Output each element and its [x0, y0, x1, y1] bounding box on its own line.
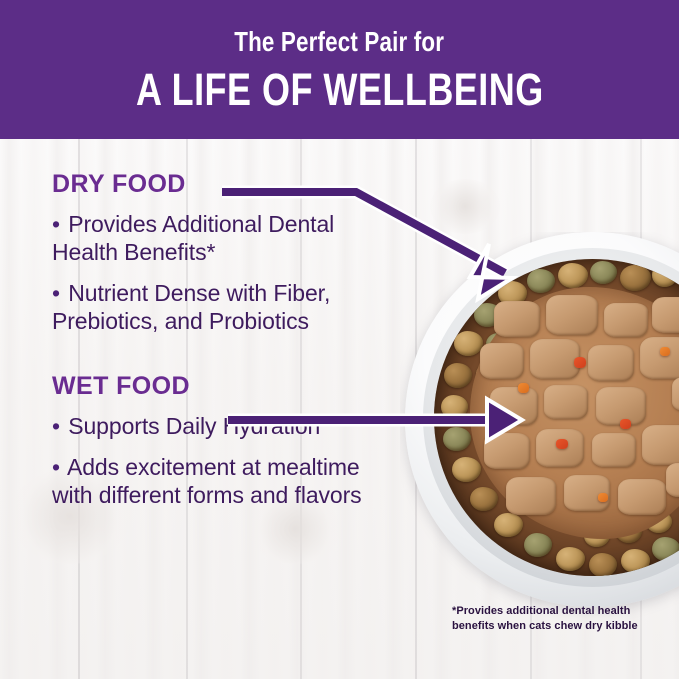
wet-food-heading: WET FOOD — [52, 374, 382, 399]
header-title: A LIFE OF WELLBEING — [136, 67, 544, 112]
infographic-page: The Perfect Pair for A LIFE OF WELLBEING… — [0, 0, 679, 679]
footnote-line-2: benefits when cats chew dry kibble — [452, 619, 667, 634]
dry-food-bullet-2-text: Nutrient Dense with Fiber, Prebiotics, a… — [52, 280, 330, 334]
dry-food-bullet-2: • Nutrient Dense with Fiber, Prebiotics,… — [52, 279, 382, 335]
wet-food-bullet-1-text: Supports Daily Hydration — [68, 413, 320, 439]
bullet-dot-icon: • — [52, 211, 62, 237]
bullet-dot-icon: • — [52, 454, 62, 480]
dry-food-heading: DRY FOOD — [52, 172, 382, 197]
bullet-dot-icon: • — [52, 280, 62, 306]
wet-food-bullet-2: • Adds excitement at mealtime with diffe… — [52, 453, 382, 509]
dry-food-bullet-1: • Provides Additional Dental Health Bene… — [52, 210, 382, 266]
bullet-dot-icon: • — [52, 413, 62, 439]
section-spacer — [52, 348, 382, 374]
header-subtitle: The Perfect Pair for — [235, 28, 445, 56]
header-band: The Perfect Pair for A LIFE OF WELLBEING — [0, 0, 679, 139]
footnote: *Provides additional dental health benef… — [452, 604, 667, 633]
wet-food-bullet-2-text: Adds excitement at mealtime with differe… — [52, 454, 362, 508]
copy-column: DRY FOOD • Provides Additional Dental He… — [52, 172, 382, 522]
wet-food-bullet-1: • Supports Daily Hydration — [52, 412, 382, 440]
dry-food-bullet-1-text: Provides Additional Dental Health Benefi… — [52, 211, 334, 265]
footnote-line-1: *Provides additional dental health — [452, 604, 667, 619]
